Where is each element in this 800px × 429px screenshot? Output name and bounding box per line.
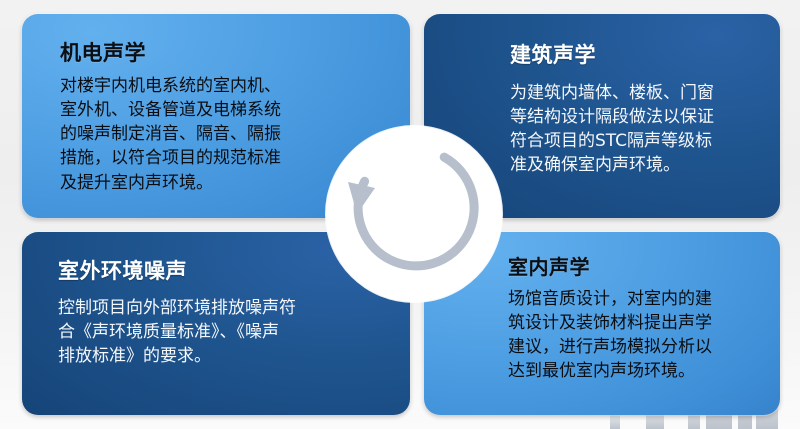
card-title: 室内声学 <box>508 256 758 278</box>
card-body: 控制项目向外部环境排放噪声符 合《声环境质量标准》、《噪声 排放标准》的要求。 <box>58 296 378 368</box>
card-body: 为建筑内墙体、楼板、门窗 等结构设计隔段做法以保证 符合项目的STC隔声等级标 … <box>510 81 758 178</box>
card-body: 对楼宇内机电系统的室内机、 室外机、设备管道及电梯系统 的噪声制定消音、隔音、隔… <box>60 74 360 195</box>
card-body: 场馆音质设计，对室内的建 筑设计及装饰材料提出声学 建议，进行声场模拟分析以 达… <box>508 287 758 384</box>
circular-arrow-counterclockwise-icon <box>326 126 502 302</box>
card-title: 建筑声学 <box>510 44 758 67</box>
card-title: 机电声学 <box>60 42 388 65</box>
center-hub <box>326 126 502 302</box>
infographic-stage: 机电声学 对楼宇内机电系统的室内机、 室外机、设备管道及电梯系统 的噪声制定消音… <box>0 0 800 429</box>
